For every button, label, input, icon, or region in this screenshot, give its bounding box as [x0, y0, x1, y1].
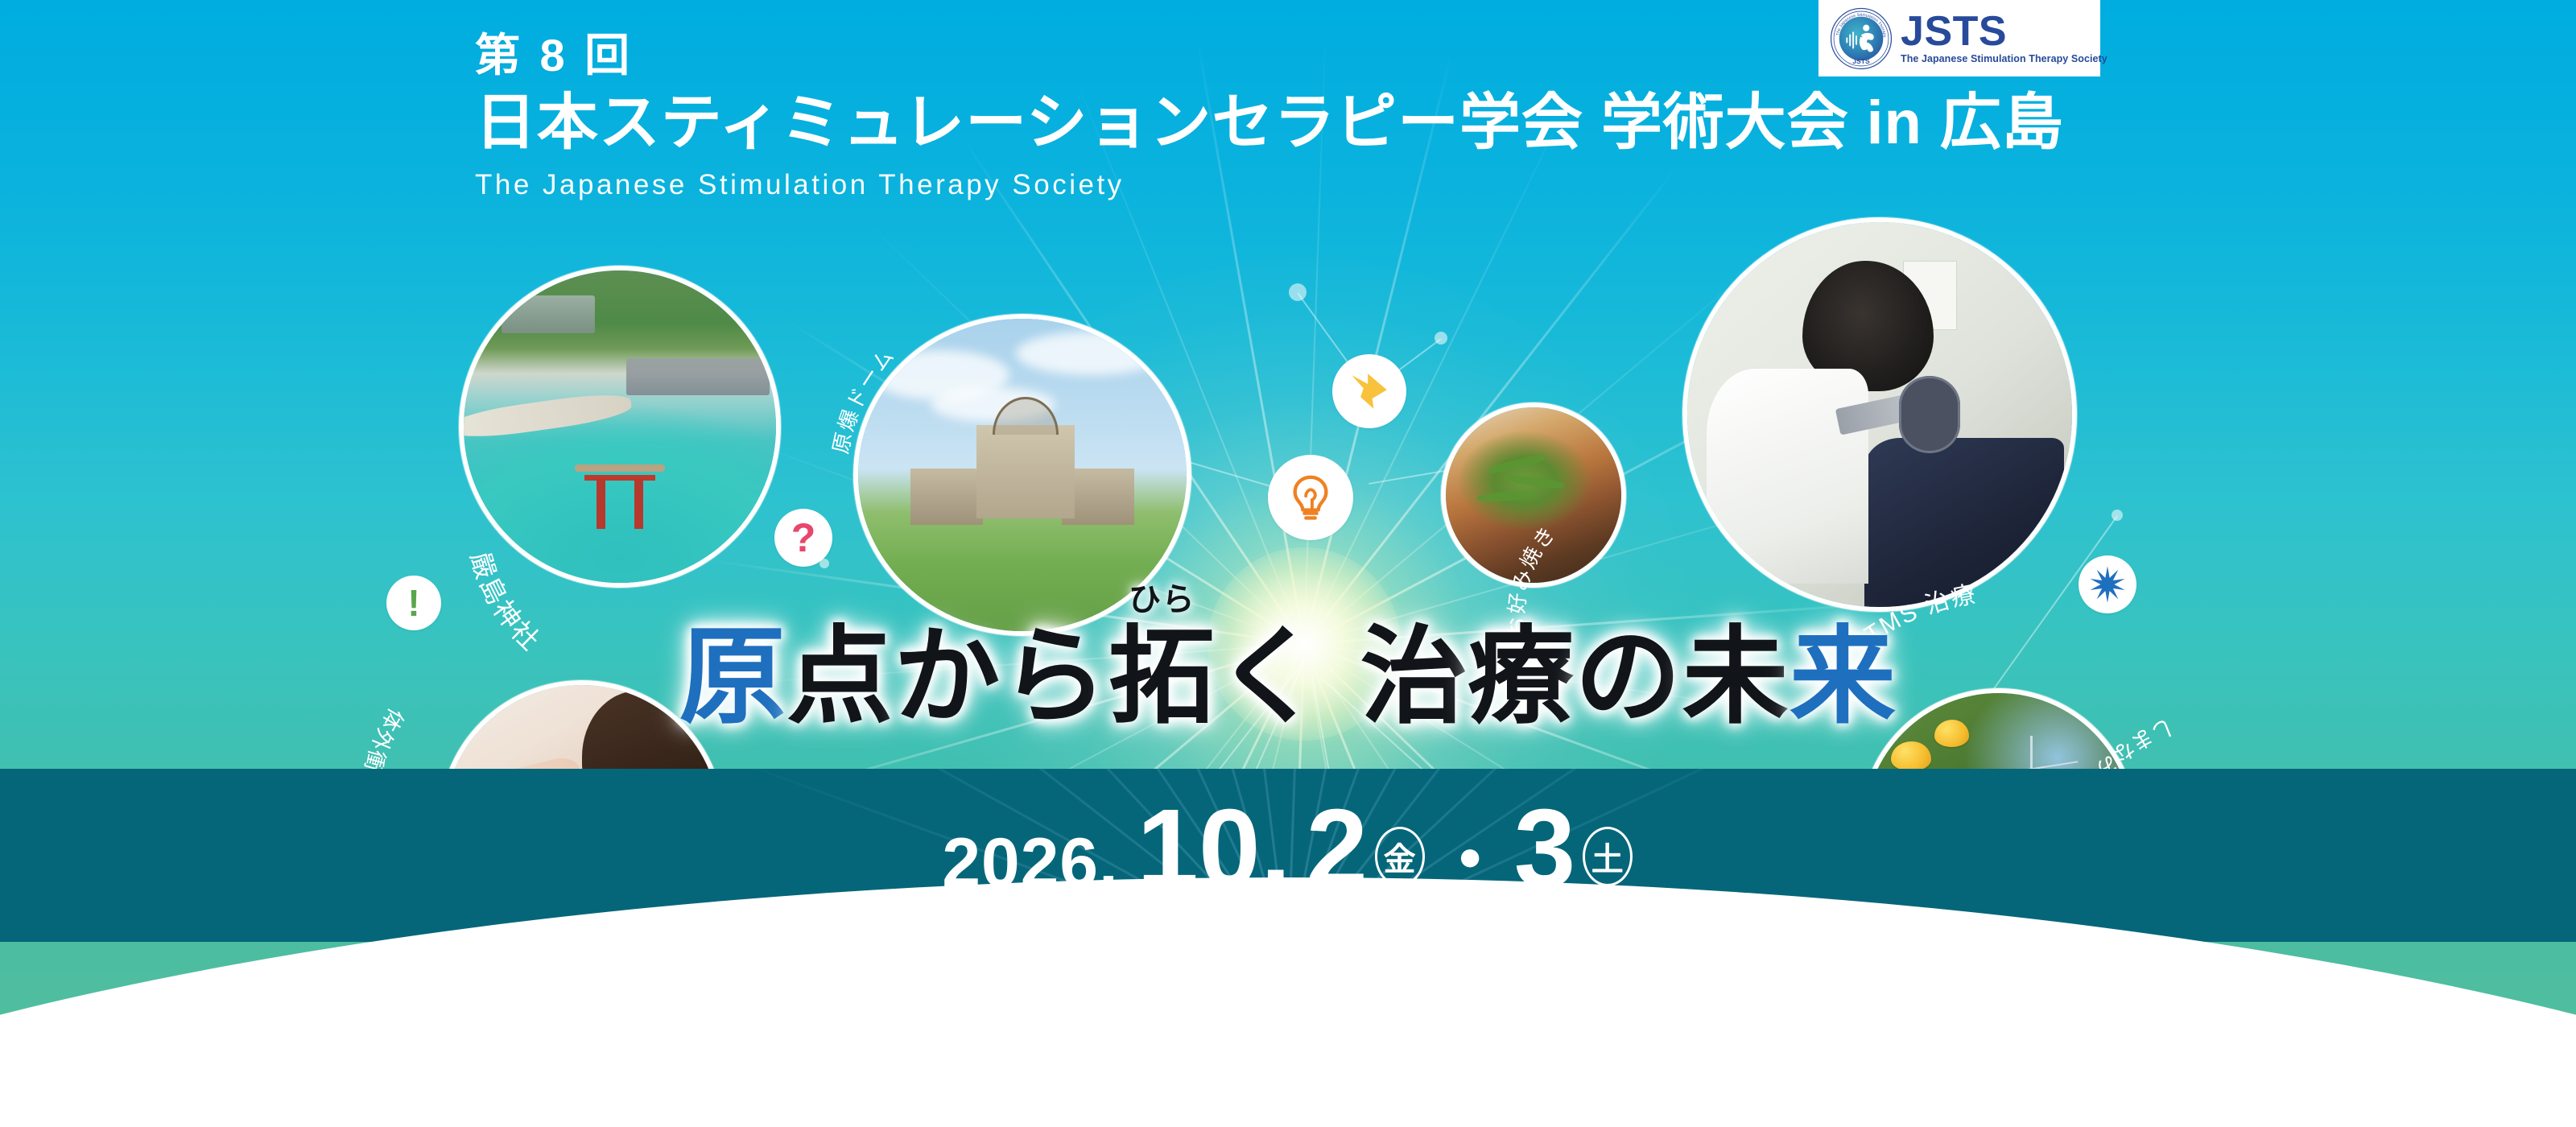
slogan-char: 拓ひら: [1108, 620, 1216, 735]
starburst-badge: [2079, 555, 2136, 613]
date-dow-1: 金: [1375, 827, 1425, 886]
society-name-en: The Japanese Stimulation Therapy Society: [475, 169, 2064, 201]
page-title: 日本スティミュレーションセラピー学会 学術大会 in 広島: [475, 86, 2064, 161]
slogan-char: 点: [786, 620, 894, 735]
slogan-furigana: ひら: [1129, 583, 1195, 617]
question-badge: ?: [774, 509, 832, 567]
slogan-char: 原: [679, 620, 786, 735]
slogan-block: 原点から拓ひらく治療の未来: [0, 620, 2576, 735]
date-day-2: 3: [1514, 786, 1576, 910]
question-mark-icon: ?: [791, 518, 816, 558]
jsts-emblem-icon: JSTS The Japanese Stimulation Therapy So…: [1830, 7, 1893, 70]
slogan-char: 治: [1360, 620, 1468, 735]
photo-okonomiyaki: [1441, 402, 1626, 588]
lightning-bolt-icon: [1346, 368, 1393, 415]
date-day-1: 2: [1294, 786, 1368, 910]
slogan-char: 療: [1468, 620, 1575, 735]
emblem-acronym: JSTS: [1852, 57, 1870, 65]
lightbulb-badge: [1268, 455, 1353, 540]
slogan-char: の: [1575, 620, 1682, 735]
lightbulb-icon: [1286, 473, 1335, 522]
date-dow-2: 土: [1583, 827, 1633, 886]
jsts-logo: JSTS The Japanese Stimulation Therapy So…: [1818, 0, 2100, 76]
slogan-char: く: [1216, 620, 1323, 735]
slogan-char: ら: [1001, 620, 1108, 735]
photo-itsukushima-shrine: [459, 266, 781, 588]
date-dow-2-badge: 土: [1583, 827, 1633, 886]
logo-tagline: The Japanese Stimulation Therapy Society: [1901, 53, 2107, 64]
exclamation-mark-icon: !: [407, 584, 419, 621]
lightning-badge: [1332, 354, 1406, 428]
logo-acronym: JSTS: [1901, 12, 2107, 52]
photo-rtms-treatment: [1682, 217, 2077, 612]
slogan-char: 来: [1790, 620, 1897, 735]
photo-credit: 写真提供：広島県・一般社団法人広島県観光連盟: [0, 926, 2576, 956]
slogan-char: か: [894, 620, 1001, 735]
conference-banner: 嚴島神社 原爆ドーム お好み焼き rTMS 治療 体外衝撃波治療 しまなみ海道＆…: [0, 0, 2576, 1127]
date-separator: ・: [1430, 820, 1510, 902]
event-date: 2026. 10. 2 金 ・ 3 土: [0, 785, 2576, 913]
slogan-char: 未: [1682, 620, 1790, 735]
slogan-text: 原点から拓ひらく治療の未来: [679, 620, 1897, 735]
date-month: 10.: [1122, 786, 1291, 910]
starburst-icon: [2087, 563, 2128, 605]
date-year: 2026.: [942, 824, 1119, 902]
date-dow-1-badge: 金: [1375, 827, 1425, 886]
